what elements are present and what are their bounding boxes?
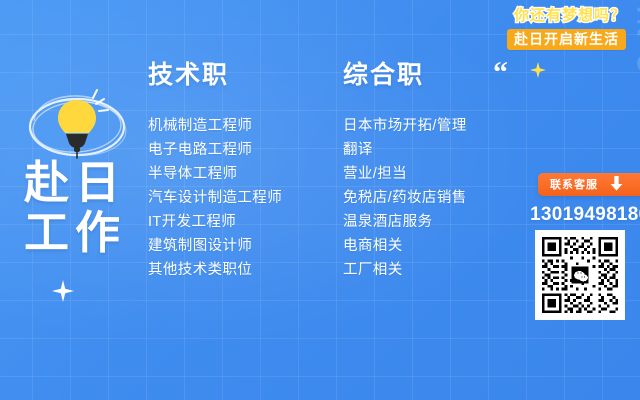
contact-support-label: 联系客服 xyxy=(550,179,598,191)
quote-mark-icon: “ xyxy=(493,58,507,88)
page-title-line2: 工作 xyxy=(24,208,126,258)
headline-block: 你还有梦想吗？ 赴日开启新生活 xyxy=(507,6,626,50)
headline-question: 你还有梦想吗？ xyxy=(507,6,626,26)
headline-badge: 赴日开启新生活 xyxy=(507,29,626,50)
list-item[interactable]: 免税店/药妆店销售 xyxy=(343,186,467,210)
list-item[interactable]: 工厂相关 xyxy=(343,258,467,282)
arrow-down-icon xyxy=(610,176,623,194)
page-title-line1: 赴日 xyxy=(24,158,126,208)
job-list-technical: 机械制造工程师 电子电路工程师 半导体工程师 汽车设计制造工程师 IT开发工程师… xyxy=(148,114,282,282)
contact-phone-number[interactable]: 13019498186 xyxy=(530,204,634,226)
job-column-general: 综合职 日本市场开拓/管理 翻译 营业/担当 免税店/药妆店销售 温泉酒店服务 … xyxy=(343,60,467,282)
list-item[interactable]: 机械制造工程师 xyxy=(148,114,282,138)
join-us-watermark: JOIN U xyxy=(634,0,640,78)
column-heading: 综合职 xyxy=(343,60,467,90)
list-item[interactable]: 半导体工程师 xyxy=(148,162,282,186)
list-item[interactable]: 温泉酒店服务 xyxy=(343,210,467,234)
poster-canvas: JOIN U 你还有梦想吗？ 赴日开启新生活 “ xyxy=(0,0,640,400)
list-item[interactable]: 日本市场开拓/管理 xyxy=(343,114,467,138)
job-list-general: 日本市场开拓/管理 翻译 营业/担当 免税店/药妆店销售 温泉酒店服务 电商相关… xyxy=(343,114,467,282)
sparkle-star-icon xyxy=(530,62,546,78)
list-item[interactable]: 建筑制图设计师 xyxy=(148,234,282,258)
column-heading: 技术职 xyxy=(148,60,282,90)
list-item[interactable]: 汽车设计制造工程师 xyxy=(148,186,282,210)
list-item[interactable]: IT开发工程师 xyxy=(148,210,282,234)
list-item[interactable]: 电商相关 xyxy=(343,234,467,258)
list-item[interactable]: 营业/担当 xyxy=(343,162,467,186)
contact-support-button[interactable]: 联系客服 xyxy=(538,173,640,196)
list-item[interactable]: 其他技术类职位 xyxy=(148,258,282,282)
job-column-technical: 技术职 机械制造工程师 电子电路工程师 半导体工程师 汽车设计制造工程师 IT开… xyxy=(148,60,282,282)
page-title: 赴日 工作 xyxy=(24,158,126,258)
qr-code-icon[interactable] xyxy=(535,230,625,320)
list-item[interactable]: 翻译 xyxy=(343,138,467,162)
list-item[interactable]: 电子电路工程师 xyxy=(148,138,282,162)
sparkle-star-icon xyxy=(52,280,74,302)
